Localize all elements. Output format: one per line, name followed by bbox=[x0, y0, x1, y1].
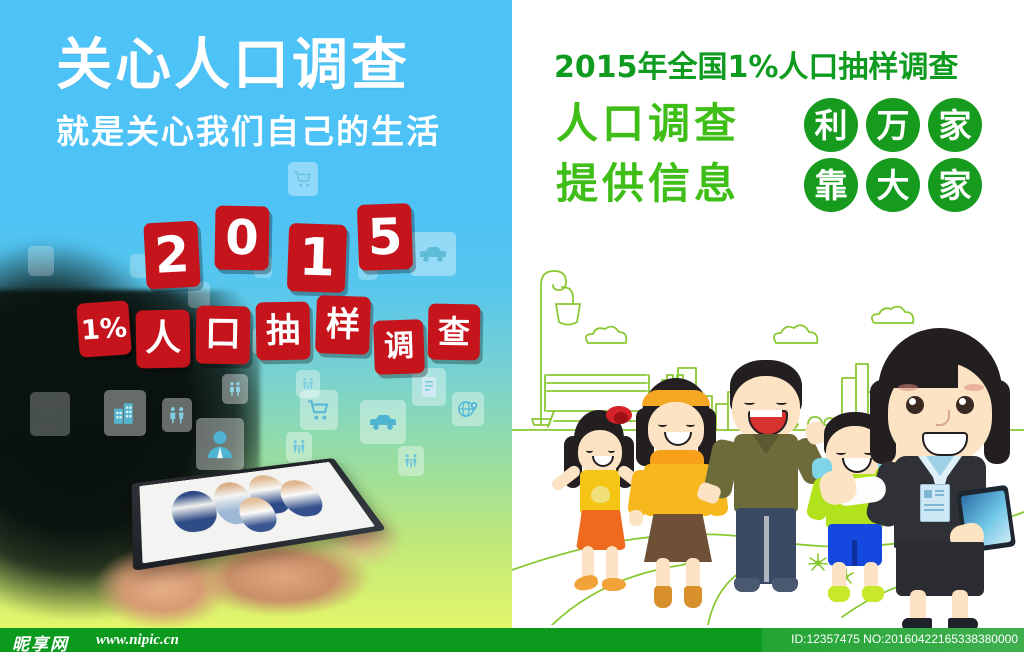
page-title: 关心人口调查 bbox=[56, 38, 476, 94]
slogan-circle-da: 大 bbox=[866, 158, 920, 212]
year-tile-0: 2 bbox=[143, 221, 200, 290]
slogan-circle-kao: 靠 bbox=[804, 158, 858, 212]
slogan-circles-row-2: 靠 大 家 bbox=[804, 158, 982, 212]
father-olive-shirt bbox=[712, 360, 822, 612]
footer-watermark-bar: 昵享网 www.nipic.cn ID:12357475 NO:20160422… bbox=[0, 628, 1024, 652]
globe-location-icon bbox=[452, 392, 484, 426]
slogan-tile-6: 查 bbox=[428, 304, 481, 361]
slogan-line-1: 人口调查 bbox=[556, 103, 740, 145]
slogan-circle-wan: 万 bbox=[866, 98, 920, 152]
car-icon bbox=[410, 232, 456, 276]
slogan-tile-5: 调 bbox=[373, 319, 425, 375]
family-parents-child-icon bbox=[296, 370, 320, 398]
year-tile-2: 1 bbox=[287, 223, 347, 293]
slogan-tile-4: 样 bbox=[315, 295, 371, 355]
blank-tile-icon bbox=[28, 246, 54, 276]
poster-canvas: 关心人口调查 就是关心我们自己的生活 2 0 1 5 1% 人 口 抽 样 调 … bbox=[0, 0, 1024, 652]
image-id-text: ID:12357475 NO:20160422165338380000 bbox=[791, 632, 1018, 646]
slogan-circle-jia2: 家 bbox=[928, 158, 982, 212]
shopping-cart-icon bbox=[288, 162, 318, 196]
census-worker-with-tablet bbox=[864, 328, 1014, 618]
site-url[interactable]: www.nipic.cn bbox=[96, 632, 179, 649]
year-tile-3: 5 bbox=[357, 203, 413, 271]
document-icon bbox=[412, 368, 446, 406]
slogan-circle-jia: 家 bbox=[928, 98, 982, 152]
hand-holding-tablet-photo bbox=[40, 430, 430, 628]
slogan-tile-2: 口 bbox=[195, 306, 250, 365]
year-tile-1: 0 bbox=[214, 206, 269, 271]
family-couple-icon bbox=[162, 398, 192, 432]
right-panel: 2015年全国1%人口抽样调查 人口调查 提供信息 利 万 家 靠 大 家 bbox=[512, 0, 1024, 628]
slogan-tile-1: 人 bbox=[135, 310, 190, 369]
slogan-line-2: 提供信息 bbox=[556, 163, 740, 205]
left-panel: 关心人口调查 就是关心我们自己的生活 2 0 1 5 1% 人 口 抽 样 调 … bbox=[0, 0, 512, 628]
page-subtitle: 就是关心我们自己的生活 bbox=[56, 115, 486, 148]
campaign-title: 2015年全国1%人口抽样调查 bbox=[554, 42, 1004, 86]
slogan-tile-0: 1% bbox=[76, 300, 132, 357]
family-couple-icon bbox=[222, 374, 248, 404]
site-logo: 昵享网 bbox=[12, 630, 69, 652]
slogan-circles-row-1: 利 万 家 bbox=[804, 98, 982, 152]
slogan-tile-3: 抽 bbox=[255, 302, 310, 361]
slogan-circle-li: 利 bbox=[804, 98, 858, 152]
